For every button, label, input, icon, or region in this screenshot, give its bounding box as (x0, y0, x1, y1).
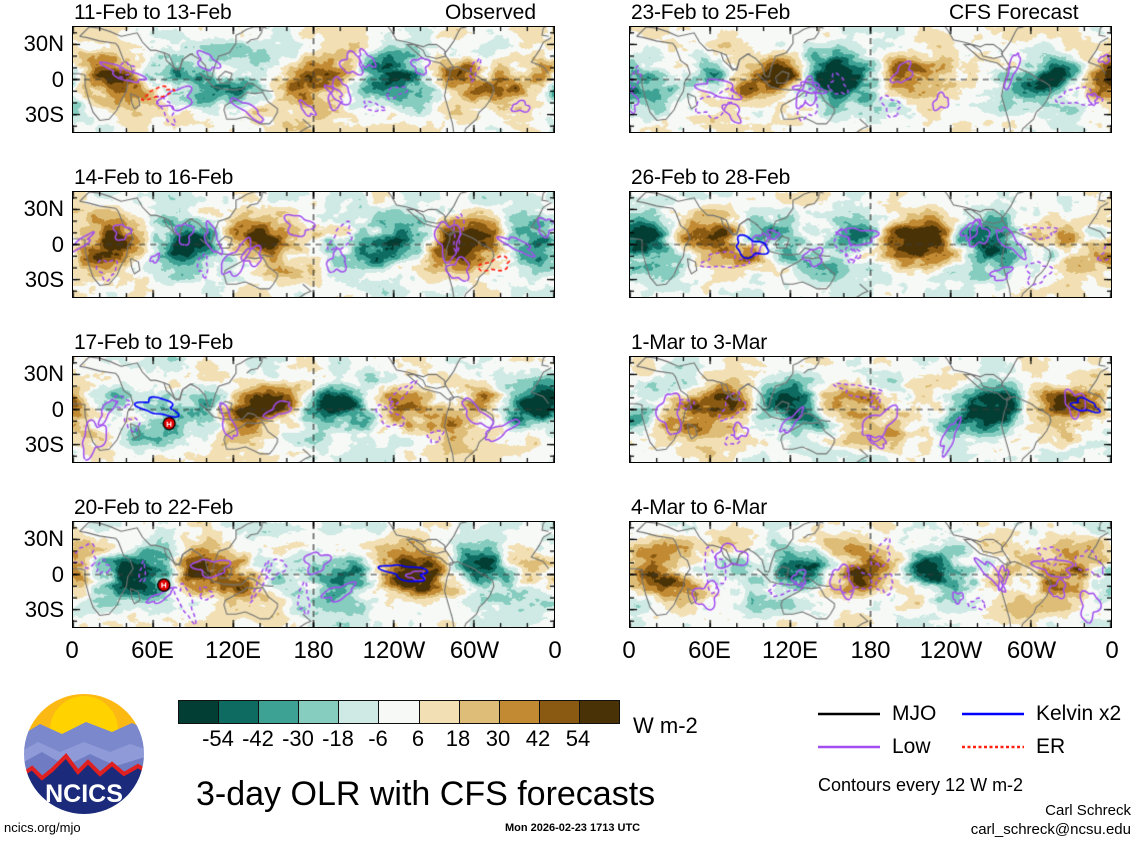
legend-swatch-mjo (818, 708, 880, 720)
x-tick-label: 180 (829, 637, 913, 665)
y-tick-label: 0 (0, 67, 64, 93)
contour-interval-note: Contours every 12 W m-2 (818, 775, 1023, 796)
panel-title-left-2: 17-Feb to 19-Feb (74, 331, 233, 355)
x-tick-label: 0 (587, 637, 671, 665)
panel-title-right-2: 1-Mar to 3-Mar (631, 331, 767, 355)
panel-title-right-3: 4-Mar to 6-Mar (631, 496, 767, 520)
generation-timestamp: Mon 2026-02-23 1713 UTC (505, 822, 640, 834)
colorbar-tick-label: 54 (548, 726, 608, 752)
legend-label: ER (1036, 735, 1065, 759)
colorbar-swatch (579, 701, 619, 723)
panel-title-left-1: 14-Feb to 16-Feb (74, 166, 233, 190)
y-tick-label: 30N (0, 526, 64, 552)
y-tick-label: 0 (0, 232, 64, 258)
map-field-canvas (73, 357, 554, 462)
author-name: Carl Schreck (935, 802, 1131, 819)
ncics-logo: NCICS (20, 690, 148, 818)
panel-title-left-0: 11-Feb to 13-Feb (74, 1, 232, 25)
colorbar-swatch (258, 701, 298, 723)
x-tick-label: 120W (352, 637, 436, 665)
colorbar-swatch (378, 701, 418, 723)
legend-label: MJO (892, 702, 936, 726)
x-tick-label: 60E (668, 637, 752, 665)
map-field-canvas (630, 192, 1111, 297)
colorbar-swatch (338, 701, 378, 723)
figure-title: 3-day OLR with CFS forecasts (196, 775, 655, 814)
ncics-logo-graphic: NCICS (20, 690, 148, 818)
author-email[interactable]: carl_schreck@ncsu.edu (911, 821, 1131, 838)
map-panel-left-0 (72, 26, 555, 133)
y-tick-label: 30N (0, 361, 64, 387)
legend-swatch-er (962, 741, 1024, 753)
site-link[interactable]: ncics.org/mjo (4, 820, 81, 835)
legend-swatch-low (818, 741, 880, 753)
ncics-logo-text: NCICS (45, 780, 123, 808)
y-tick-label: 30N (0, 31, 64, 57)
colorbar-swatch (459, 701, 499, 723)
legend-label: Low (892, 735, 931, 759)
y-tick-label: 30S (0, 267, 64, 293)
column-header-0: Observed (445, 1, 536, 25)
y-tick-label: 0 (0, 397, 64, 423)
panel-title-left-3: 20-Feb to 22-Feb (74, 496, 233, 520)
map-panel-right-3 (629, 521, 1112, 628)
map-panel-right-1 (629, 191, 1112, 298)
x-tick-label: 60E (111, 637, 195, 665)
map-panel-left-1 (72, 191, 555, 298)
y-tick-label: 30S (0, 597, 64, 623)
x-tick-label: 0 (1070, 637, 1135, 665)
x-tick-label: 60W (433, 637, 517, 665)
colorbar-swatch (539, 701, 579, 723)
y-tick-label: 30N (0, 196, 64, 222)
x-tick-label: 60W (990, 637, 1074, 665)
legend-swatch-kelvin-x2 (962, 708, 1024, 720)
x-tick-label: 120W (909, 637, 993, 665)
map-panel-right-0 (629, 26, 1112, 133)
map-field-canvas (73, 192, 554, 297)
colorbar-swatch (179, 701, 218, 723)
map-field-canvas (73, 522, 554, 627)
colorbar-swatch (419, 701, 459, 723)
x-tick-label: 120E (191, 637, 275, 665)
map-panel-left-3 (72, 521, 555, 628)
map-panel-left-2 (72, 356, 555, 463)
column-header-1: CFS Forecast (949, 1, 1079, 25)
map-field-canvas (630, 522, 1111, 627)
legend-label: Kelvin x2 (1036, 702, 1121, 726)
map-field-canvas (630, 357, 1111, 462)
colorbar-unit-label: W m-2 (633, 713, 698, 739)
colorbar (178, 700, 620, 724)
y-tick-label: 30S (0, 102, 64, 128)
x-tick-label: 0 (30, 637, 114, 665)
map-panel-right-2 (629, 356, 1112, 463)
colorbar-swatch (218, 701, 258, 723)
x-tick-label: 180 (272, 637, 356, 665)
x-tick-label: 120E (748, 637, 832, 665)
panel-title-right-1: 26-Feb to 28-Feb (631, 166, 790, 190)
colorbar-swatch (499, 701, 539, 723)
colorbar-swatch (298, 701, 338, 723)
x-tick-label: 0 (513, 637, 597, 665)
panel-title-right-0: 23-Feb to 25-Feb (631, 1, 790, 25)
map-field-canvas (630, 27, 1111, 132)
map-field-canvas (73, 27, 554, 132)
y-tick-label: 30S (0, 432, 64, 458)
y-tick-label: 0 (0, 562, 64, 588)
